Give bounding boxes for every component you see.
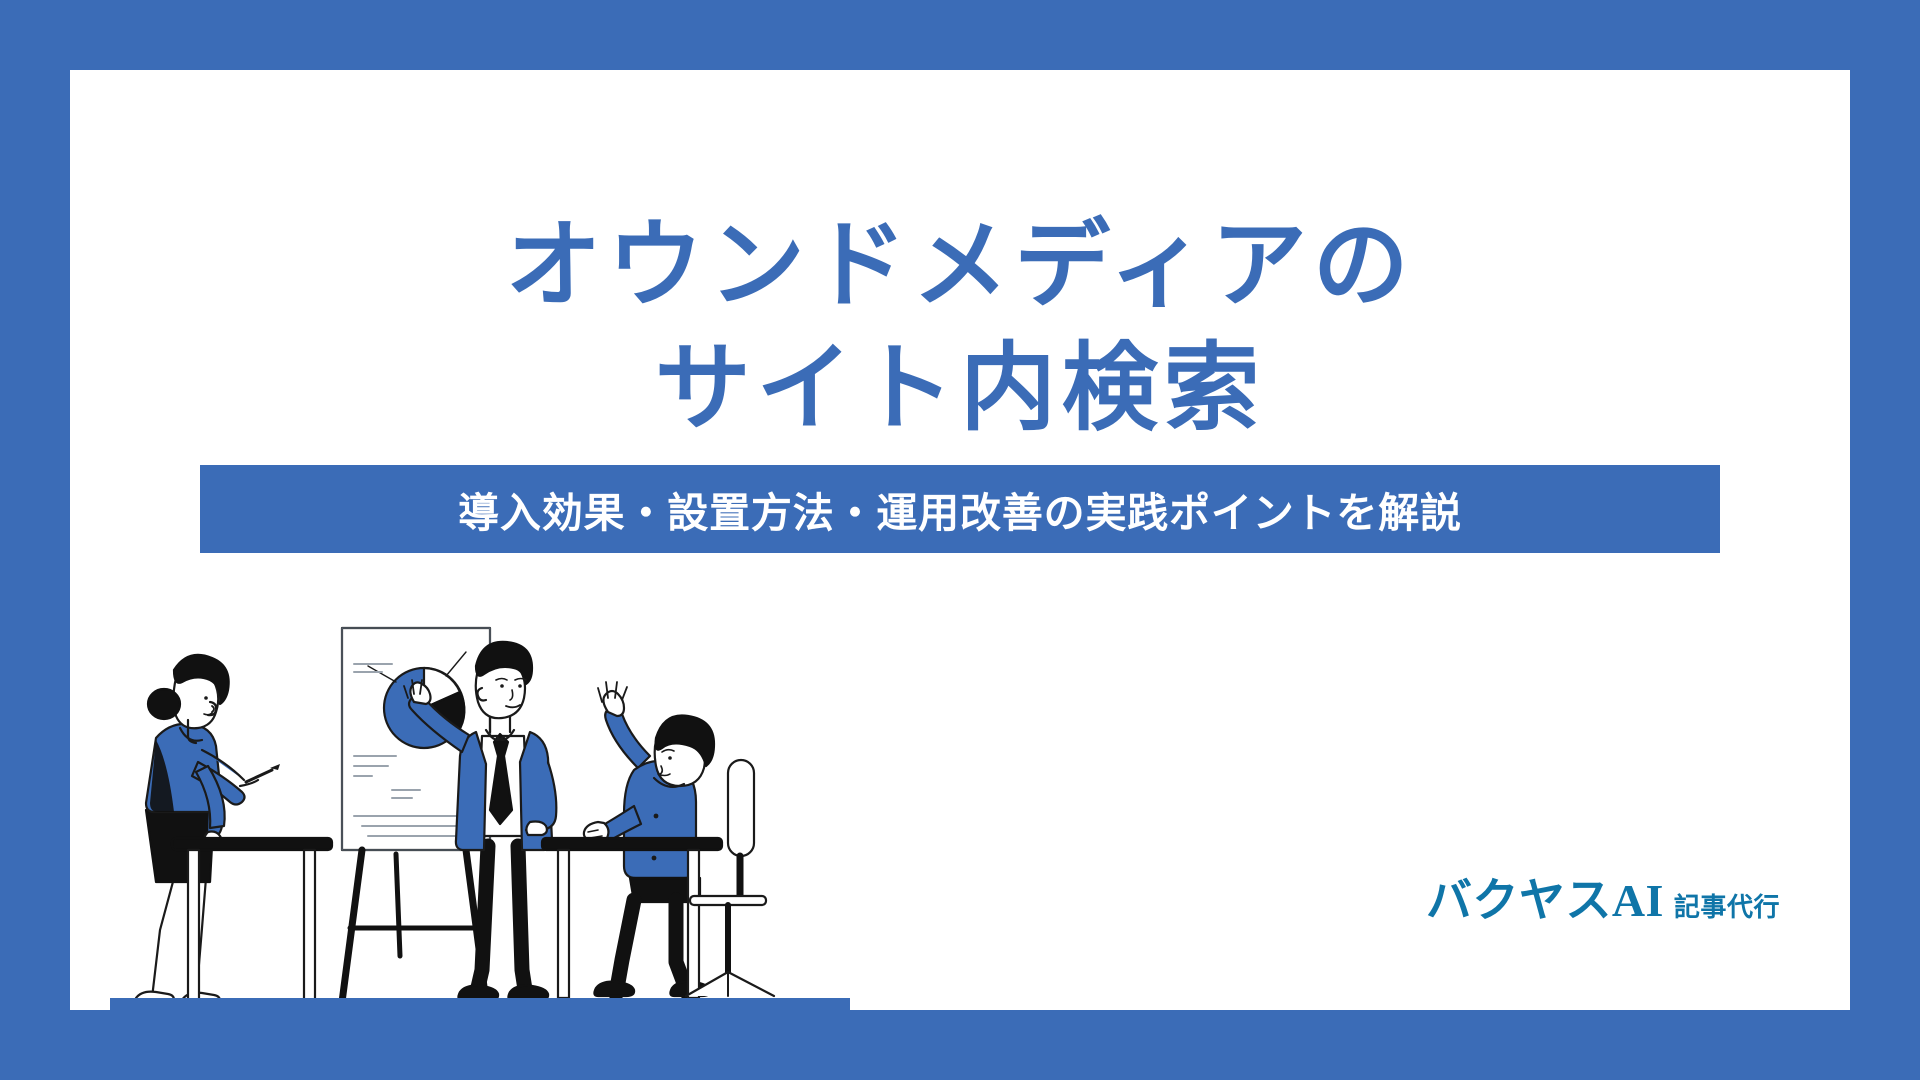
subtitle-band: 導入効果・設置方法・運用改善の実践ポイントを解説 (200, 465, 1720, 553)
brand-name: バクヤスAI (1426, 864, 1664, 930)
office-team-presentation-illustration (110, 610, 850, 1010)
brand-logo: バクヤスAI 記事代行 (1426, 864, 1780, 930)
subtitle-text: 導入効果・設置方法・運用改善の実践ポイントを解説 (458, 479, 1462, 539)
page-title-line-1: オウンドメディアの (70, 205, 1850, 328)
brand-tagline: 記事代行 (1674, 887, 1780, 924)
figure-woman-pointing (136, 655, 280, 1001)
slide-white-panel: オウンドメディアの サイト内検索 導入効果・設置方法・運用改善の実践ポイントを解… (70, 70, 1850, 1010)
page-title-line-2: サイト内検索 (70, 328, 1850, 451)
slide-root: オウンドメディアの サイト内検索 導入効果・設置方法・運用改善の実践ポイントを解… (0, 0, 1920, 1080)
desk-left (172, 838, 332, 1000)
page-title: オウンドメディアの サイト内検索 (70, 205, 1850, 451)
